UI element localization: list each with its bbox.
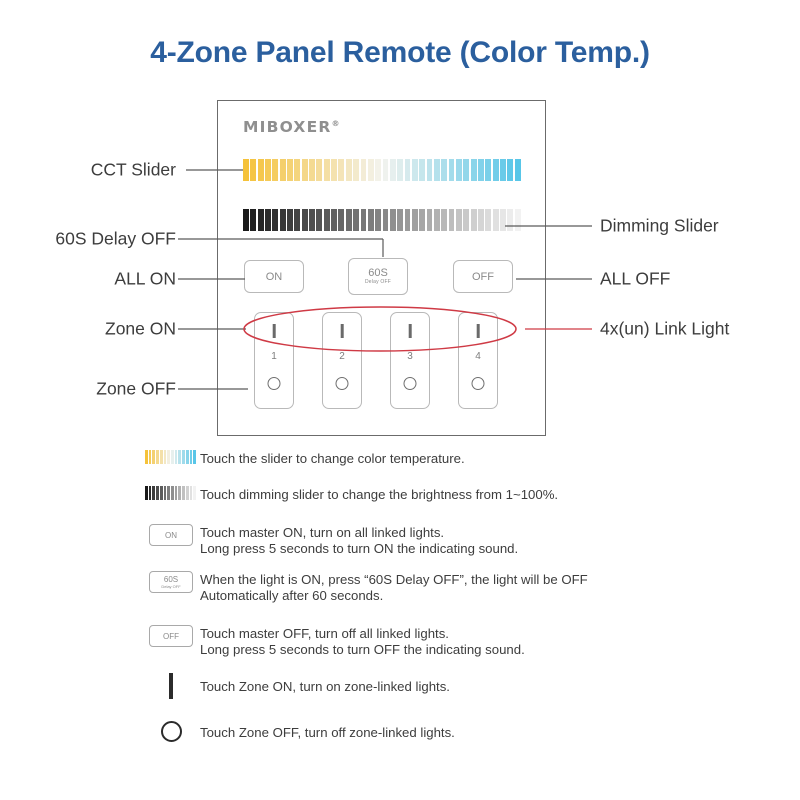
zone-button-2[interactable]: 2 bbox=[322, 312, 362, 409]
slider-tick bbox=[193, 486, 196, 500]
slider-tick bbox=[287, 159, 293, 181]
dimming-slider-icon bbox=[145, 486, 197, 500]
device-panel: MIBOXER® ON 60S Delay OFF OFF 1 2 3 4 bbox=[217, 100, 546, 436]
slider-tick bbox=[441, 159, 447, 181]
delay-button-icon-sublabel: Delay OFF bbox=[161, 584, 180, 589]
slider-tick bbox=[156, 486, 159, 500]
slider-tick bbox=[171, 450, 174, 464]
slider-tick bbox=[302, 209, 308, 231]
slider-tick bbox=[478, 209, 484, 231]
callout-label-link-light: 4x(un) Link Light bbox=[600, 319, 729, 340]
callout-label-all-on: ALL ON bbox=[114, 269, 176, 290]
slider-tick bbox=[507, 159, 513, 181]
slider-tick bbox=[338, 159, 344, 181]
slider-tick bbox=[316, 159, 322, 181]
slider-tick bbox=[178, 450, 181, 464]
delay-button-icon-label: 60S bbox=[164, 575, 178, 584]
slider-tick bbox=[149, 486, 152, 500]
zone-off-circle-icon bbox=[161, 721, 182, 742]
slider-tick bbox=[515, 209, 521, 231]
zone-off-circle-icon[interactable] bbox=[404, 377, 417, 390]
legend-line-1: Touch Zone OFF, turn off zone-linked lig… bbox=[200, 725, 455, 740]
slider-tick bbox=[302, 159, 308, 181]
callout-label-delay-off: 60S Delay OFF bbox=[55, 229, 176, 250]
legend-line-1: Touch dimming slider to change the brigh… bbox=[200, 487, 558, 502]
legend-text: When the light is ON, press “60S Delay O… bbox=[200, 571, 762, 603]
callout-label-all-off: ALL OFF bbox=[600, 269, 670, 290]
legend-text: Touch master OFF, turn off all linked li… bbox=[200, 625, 762, 657]
slider-tick bbox=[507, 209, 513, 231]
slider-tick bbox=[164, 450, 167, 464]
slider-tick bbox=[287, 209, 293, 231]
legend-text: Touch Zone ON, turn on zone-linked light… bbox=[200, 673, 762, 695]
legend-text: Touch Zone OFF, turn off zone-linked lig… bbox=[200, 721, 762, 741]
callout-label-cct-slider: CCT Slider bbox=[91, 160, 176, 181]
legend-text: Touch the slider to change color tempera… bbox=[200, 450, 762, 467]
slider-tick bbox=[478, 159, 484, 181]
slider-tick bbox=[419, 159, 425, 181]
slider-tick bbox=[152, 486, 155, 500]
legend-line-1: Touch Zone ON, turn on zone-linked light… bbox=[200, 679, 450, 694]
legend-line-2: Long press 5 seconds to turn OFF the ind… bbox=[200, 642, 762, 658]
cct-slider-icon bbox=[145, 450, 197, 464]
legend-item-delay-off: 60S Delay OFF When the light is ON, pres… bbox=[142, 571, 762, 625]
slider-tick bbox=[167, 486, 170, 500]
legend-item-cct-slider: Touch the slider to change color tempera… bbox=[142, 450, 762, 486]
zone-on-bar-icon[interactable] bbox=[477, 324, 480, 338]
all-off-button[interactable]: OFF bbox=[453, 260, 513, 293]
dimming-slider[interactable] bbox=[243, 209, 522, 231]
slider-tick bbox=[331, 209, 337, 231]
legend-text: Touch dimming slider to change the brigh… bbox=[200, 486, 762, 503]
slider-tick bbox=[346, 209, 352, 231]
zone-on-bar-icon[interactable] bbox=[341, 324, 344, 338]
legend-item-master-on: ON Touch master ON, turn on all linked l… bbox=[142, 524, 762, 571]
slider-tick bbox=[145, 486, 148, 500]
delay-off-button-sublabel: Delay OFF bbox=[365, 279, 391, 286]
registered-trademark-icon: ® bbox=[332, 119, 340, 128]
slider-tick bbox=[156, 450, 159, 464]
legend-line-1: Touch master ON, turn on all linked ligh… bbox=[200, 525, 762, 541]
legend-item-master-off: OFF Touch master OFF, turn off all linke… bbox=[142, 625, 762, 673]
slider-tick bbox=[383, 159, 389, 181]
slider-tick bbox=[178, 486, 181, 500]
slider-tick bbox=[361, 209, 367, 231]
slider-tick bbox=[324, 209, 330, 231]
callout-label-zone-on: Zone ON bbox=[105, 319, 176, 340]
legend-icon-cell bbox=[142, 673, 200, 699]
brand-logo: MIBOXER® bbox=[243, 118, 340, 136]
slider-tick bbox=[272, 209, 278, 231]
slider-tick bbox=[258, 209, 264, 231]
callout-label-zone-off: Zone OFF bbox=[96, 379, 176, 400]
legend-icon-cell: OFF bbox=[142, 625, 200, 647]
zone-number-label: 4 bbox=[459, 351, 497, 362]
slider-tick bbox=[182, 450, 185, 464]
off-button-icon-label: OFF bbox=[163, 632, 179, 641]
slider-tick bbox=[375, 159, 381, 181]
legend-item-zone-off: Touch Zone OFF, turn off zone-linked lig… bbox=[142, 721, 762, 765]
delay-off-button-label: 60S bbox=[368, 267, 388, 279]
slider-tick bbox=[471, 209, 477, 231]
zone-button-1[interactable]: 1 bbox=[254, 312, 294, 409]
slider-tick bbox=[171, 486, 174, 500]
slider-tick bbox=[500, 159, 506, 181]
slider-tick bbox=[449, 209, 455, 231]
slider-tick bbox=[471, 159, 477, 181]
slider-tick bbox=[397, 209, 403, 231]
slider-tick bbox=[190, 450, 193, 464]
slider-tick bbox=[449, 159, 455, 181]
slider-tick bbox=[331, 159, 337, 181]
slider-tick bbox=[441, 209, 447, 231]
zone-number-label: 2 bbox=[323, 351, 361, 362]
slider-tick bbox=[456, 159, 462, 181]
slider-tick bbox=[412, 209, 418, 231]
slider-tick bbox=[390, 159, 396, 181]
slider-tick bbox=[175, 450, 178, 464]
legend-icon-cell bbox=[142, 450, 200, 464]
slider-tick bbox=[427, 209, 433, 231]
slider-tick bbox=[149, 450, 152, 464]
slider-tick bbox=[463, 159, 469, 181]
slider-tick bbox=[309, 159, 315, 181]
legend-icon-cell bbox=[142, 486, 200, 500]
slider-tick bbox=[390, 209, 396, 231]
slider-tick bbox=[250, 209, 256, 231]
slider-tick bbox=[160, 486, 163, 500]
legend-text: Touch master ON, turn on all linked ligh… bbox=[200, 524, 762, 556]
legend-line-1: Touch the slider to change color tempera… bbox=[200, 451, 465, 466]
slider-tick bbox=[353, 209, 359, 231]
slider-tick bbox=[456, 209, 462, 231]
slider-tick bbox=[167, 450, 170, 464]
slider-tick bbox=[493, 209, 499, 231]
zone-on-bar-icon bbox=[169, 673, 173, 699]
slider-tick bbox=[160, 450, 163, 464]
slider-tick bbox=[309, 209, 315, 231]
slider-tick bbox=[182, 486, 185, 500]
legend-icon-cell: 60S Delay OFF bbox=[142, 571, 200, 593]
all-on-button-label: ON bbox=[266, 271, 283, 283]
legend-item-dimming-slider: Touch dimming slider to change the brigh… bbox=[142, 486, 762, 524]
delay-button-icon: 60S Delay OFF bbox=[149, 571, 193, 593]
legend-icon-cell: ON bbox=[142, 524, 200, 546]
zone-number-label: 1 bbox=[255, 351, 293, 362]
slider-tick bbox=[368, 159, 374, 181]
legend-line-2: Long press 5 seconds to turn ON the indi… bbox=[200, 541, 762, 557]
slider-tick bbox=[280, 159, 286, 181]
slider-tick bbox=[265, 159, 271, 181]
slider-tick bbox=[353, 159, 359, 181]
slider-tick bbox=[175, 486, 178, 500]
slider-tick bbox=[419, 209, 425, 231]
slider-tick bbox=[405, 209, 411, 231]
delay-off-button[interactable]: 60S Delay OFF bbox=[348, 258, 408, 295]
zone-on-bar-icon[interactable] bbox=[273, 324, 276, 338]
slider-tick bbox=[186, 450, 189, 464]
slider-tick bbox=[412, 159, 418, 181]
slider-tick bbox=[515, 159, 521, 181]
slider-tick bbox=[338, 209, 344, 231]
slider-tick bbox=[250, 159, 256, 181]
slider-tick bbox=[463, 209, 469, 231]
slider-tick bbox=[427, 159, 433, 181]
legend-line-1: Touch master OFF, turn off all linked li… bbox=[200, 626, 762, 642]
slider-tick bbox=[258, 159, 264, 181]
slider-tick bbox=[500, 209, 506, 231]
brand-logo-text: MIBOXER bbox=[243, 118, 332, 136]
legend-line-1: When the light is ON, press “60S Delay O… bbox=[200, 572, 762, 588]
zone-off-circle-icon[interactable] bbox=[336, 377, 349, 390]
slider-tick bbox=[152, 450, 155, 464]
legend-line-2: Automatically after 60 seconds. bbox=[200, 588, 762, 604]
off-button-icon: OFF bbox=[149, 625, 193, 647]
slider-tick bbox=[324, 159, 330, 181]
slider-tick bbox=[164, 486, 167, 500]
slider-tick bbox=[361, 159, 367, 181]
slider-tick bbox=[294, 159, 300, 181]
slider-tick bbox=[434, 159, 440, 181]
legend: Touch the slider to change color tempera… bbox=[142, 450, 762, 765]
slider-tick bbox=[272, 159, 278, 181]
slider-tick bbox=[280, 209, 286, 231]
slider-tick bbox=[265, 209, 271, 231]
zone-on-bar-icon[interactable] bbox=[409, 324, 412, 338]
slider-tick bbox=[485, 159, 491, 181]
zone-off-circle-icon[interactable] bbox=[472, 377, 485, 390]
callout-label-dimming-slider: Dimming Slider bbox=[600, 216, 719, 237]
legend-icon-cell bbox=[142, 721, 200, 742]
slider-tick bbox=[434, 209, 440, 231]
zone-number-label: 3 bbox=[391, 351, 429, 362]
slider-tick bbox=[190, 486, 193, 500]
slider-tick bbox=[186, 486, 189, 500]
cct-slider[interactable] bbox=[243, 159, 522, 181]
slider-tick bbox=[193, 450, 196, 464]
slider-tick bbox=[294, 209, 300, 231]
all-off-button-label: OFF bbox=[472, 271, 494, 283]
legend-item-zone-on: Touch Zone ON, turn on zone-linked light… bbox=[142, 673, 762, 721]
slider-tick bbox=[383, 209, 389, 231]
zone-off-circle-icon[interactable] bbox=[268, 377, 281, 390]
slider-tick bbox=[375, 209, 381, 231]
zone-button-4[interactable]: 4 bbox=[458, 312, 498, 409]
slider-tick bbox=[243, 209, 249, 231]
on-button-icon: ON bbox=[149, 524, 193, 546]
slider-tick bbox=[405, 159, 411, 181]
page-title: 4-Zone Panel Remote (Color Temp.) bbox=[0, 36, 800, 70]
slider-tick bbox=[316, 209, 322, 231]
slider-tick bbox=[145, 450, 148, 464]
slider-tick bbox=[346, 159, 352, 181]
zone-button-3[interactable]: 3 bbox=[390, 312, 430, 409]
slider-tick bbox=[243, 159, 249, 181]
slider-tick bbox=[485, 209, 491, 231]
slider-tick bbox=[368, 209, 374, 231]
on-button-icon-label: ON bbox=[165, 531, 177, 540]
slider-tick bbox=[397, 159, 403, 181]
all-on-button[interactable]: ON bbox=[244, 260, 304, 293]
slider-tick bbox=[493, 159, 499, 181]
